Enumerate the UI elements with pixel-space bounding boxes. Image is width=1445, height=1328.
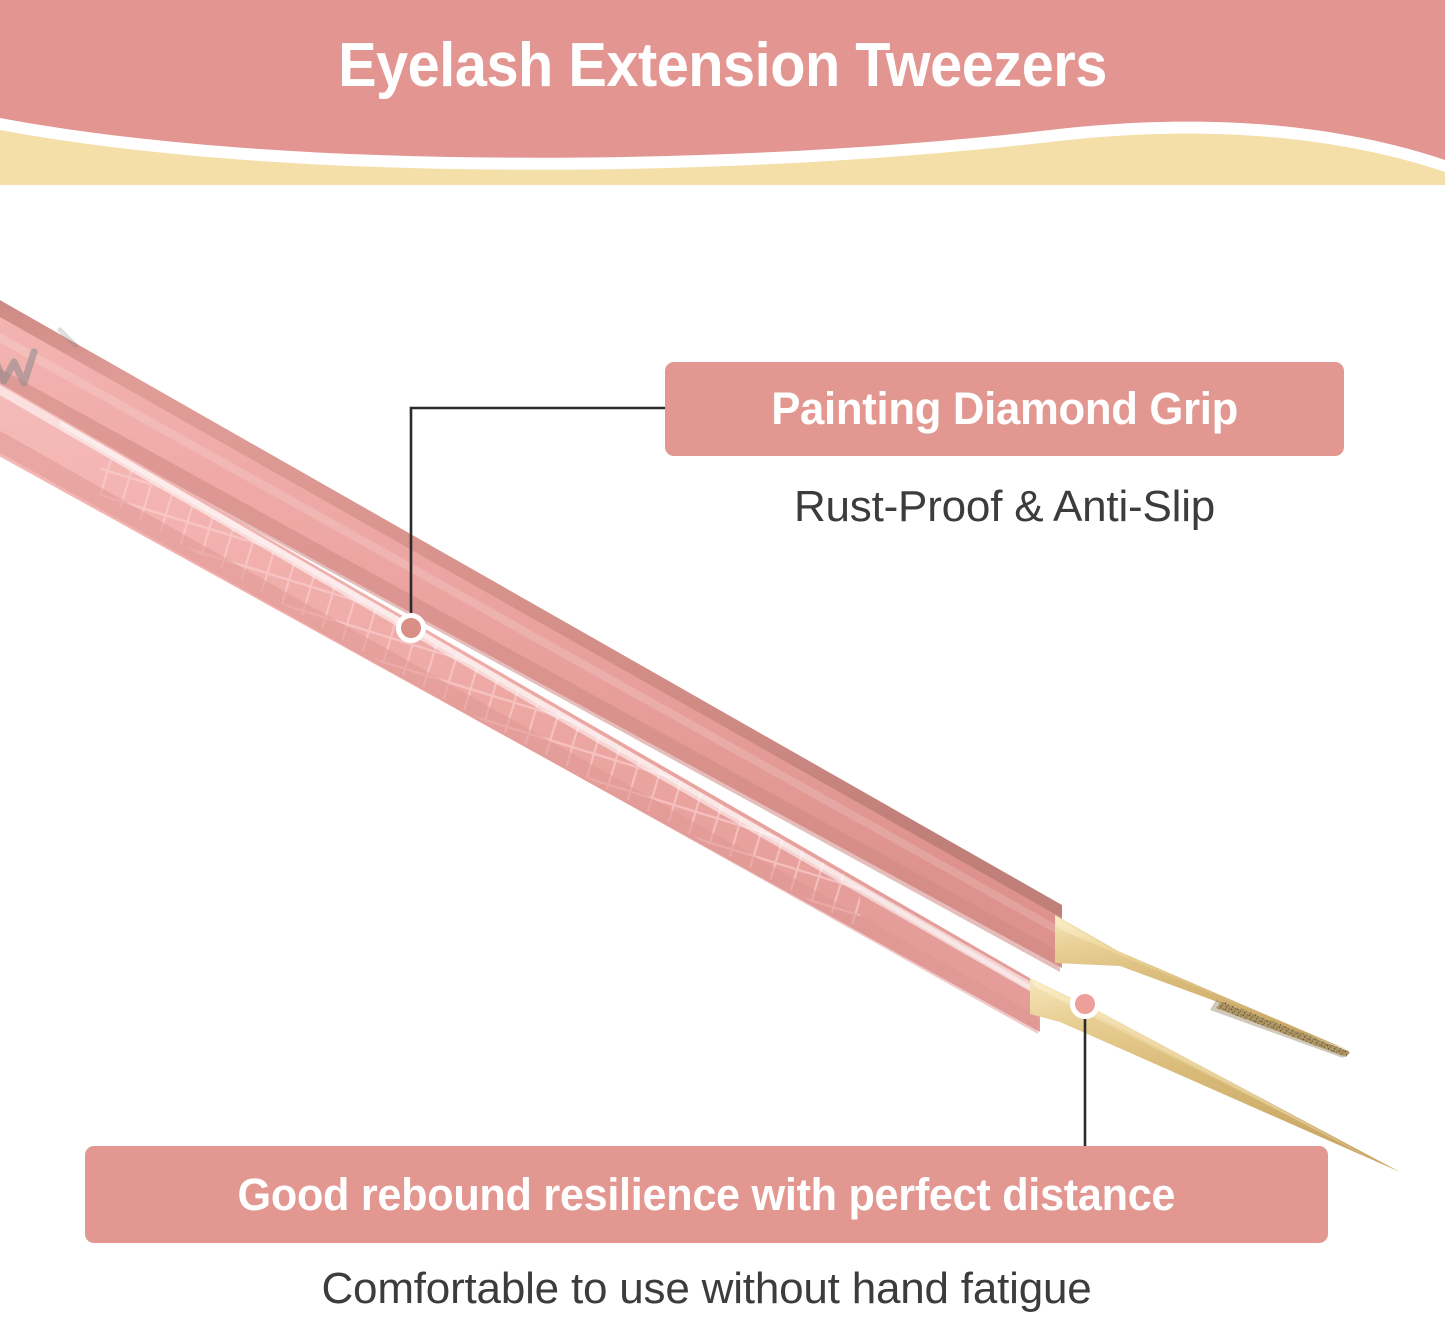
grip-marker (396, 613, 426, 643)
callout-label-rebound-text: Good rebound resilience with perfect dis… (238, 1169, 1176, 1221)
product-infographic-page: Eyelash Extension Tweezers Painting Diam… (0, 0, 1445, 1328)
callout-subtitle-rebound: Comfortable to use without hand fatigue (85, 1264, 1328, 1314)
page-title: Eyelash Extension Tweezers (51, 33, 1395, 98)
callout-label-grip: Painting Diamond Grip (665, 362, 1344, 456)
product-photo (0, 0, 1445, 1328)
callout-label-rebound: Good rebound resilience with perfect dis… (85, 1146, 1328, 1243)
callout-label-grip-text: Painting Diamond Grip (771, 383, 1238, 435)
grip-connector-line (411, 408, 666, 620)
callout-subtitle-grip: Rust-Proof & Anti-Slip (665, 482, 1344, 532)
brand-mark (0, 330, 76, 383)
callout-connectors (0, 0, 1445, 1328)
header-banner: Eyelash Extension Tweezers (0, 0, 1445, 185)
tip-marker (1070, 989, 1100, 1019)
